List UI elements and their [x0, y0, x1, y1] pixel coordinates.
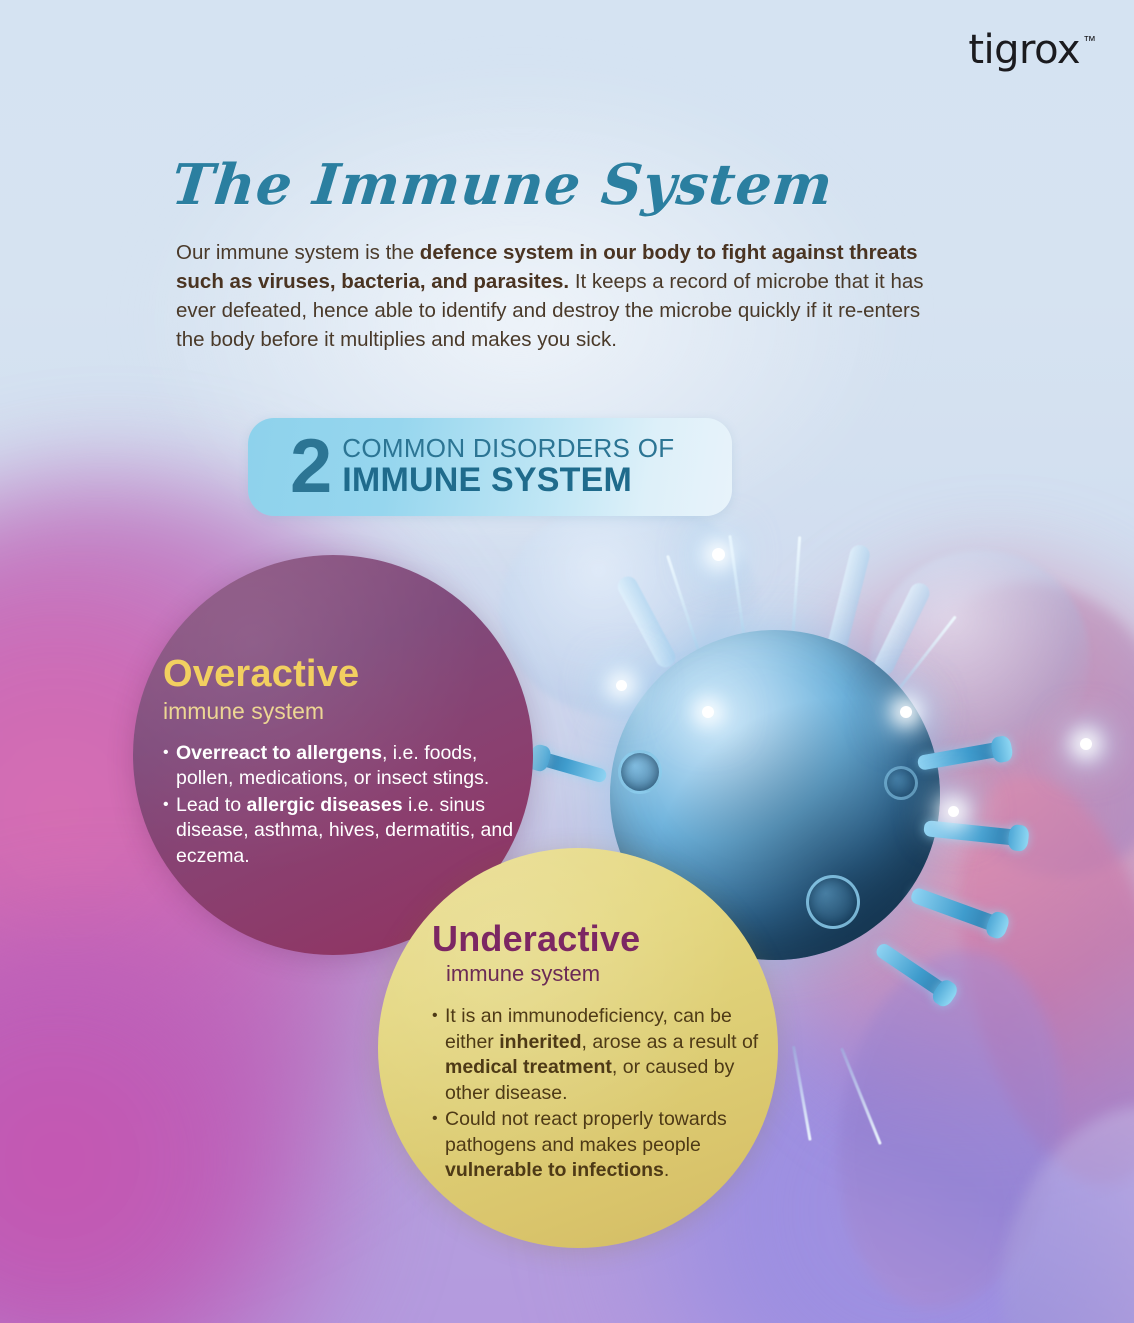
virus-spike: [792, 1046, 812, 1141]
virus-pore: [884, 766, 918, 800]
list-item: Could not react properly towards pathoge…: [432, 1107, 782, 1184]
bullet-bold: vulnerable to infections: [445, 1159, 664, 1181]
bullet-pre: Lead to: [176, 794, 246, 816]
banner-line-2: IMMUNE SYSTEM: [342, 462, 674, 499]
brand-logo: tigrox ™: [968, 30, 1096, 70]
underactive-heading: Underactive: [432, 920, 782, 958]
banner-line-1: COMMON DISORDERS OF: [342, 435, 674, 462]
intro-lead: Our immune system is the: [176, 241, 420, 264]
light-glint: [712, 548, 725, 561]
light-glint: [900, 706, 912, 718]
bullet-bold-2: medical treatment: [445, 1056, 612, 1078]
bullet-rest: .: [664, 1159, 669, 1181]
disorders-banner: 2 COMMON DISORDERS OF IMMUNE SYSTEM: [248, 418, 732, 516]
light-glint: [702, 706, 714, 718]
page-title: The Immune System: [169, 152, 837, 218]
bullet-pre: Could not react properly towards pathoge…: [445, 1108, 727, 1156]
underactive-content: Underactive immune system It is an immun…: [432, 920, 782, 1185]
bullet-bold: inherited: [499, 1031, 581, 1053]
overactive-subheading: immune system: [163, 697, 523, 727]
light-glint: [1080, 738, 1092, 750]
brand-name: tigrox: [968, 30, 1080, 70]
bullet-bold: allergic diseases: [246, 794, 402, 816]
light-glint: [948, 806, 959, 817]
banner-text-group: COMMON DISORDERS OF IMMUNE SYSTEM: [342, 435, 674, 499]
list-item: It is an immunodeficiency, can be either…: [432, 1004, 782, 1106]
underactive-subheading: immune system: [446, 960, 782, 989]
overactive-content: Overactive immune system Overreact to al…: [163, 655, 523, 870]
list-item: Lead to allergic diseases i.e. sinus dis…: [163, 793, 523, 870]
bullet-bold: Overreact to allergens: [176, 742, 382, 764]
trademark-symbol: ™: [1083, 34, 1096, 47]
list-item: Overreact to allergens, i.e. foods, poll…: [163, 741, 523, 792]
overactive-bullet-list: Overreact to allergens, i.e. foods, poll…: [163, 741, 523, 870]
bullet-mid: , arose as a result of: [582, 1031, 759, 1053]
infographic-canvas: tigrox ™ The Immune System Our immune sy…: [0, 0, 1134, 1323]
virus-pore: [806, 875, 860, 929]
underactive-bullet-list: It is an immunodeficiency, can be either…: [432, 1004, 782, 1184]
virus-pore: [618, 750, 662, 794]
virus-receptor: [537, 751, 608, 784]
overactive-heading: Overactive: [163, 655, 523, 695]
light-glint: [616, 680, 627, 691]
intro-paragraph: Our immune system is the defence system …: [176, 238, 936, 354]
banner-count: 2: [290, 433, 330, 501]
